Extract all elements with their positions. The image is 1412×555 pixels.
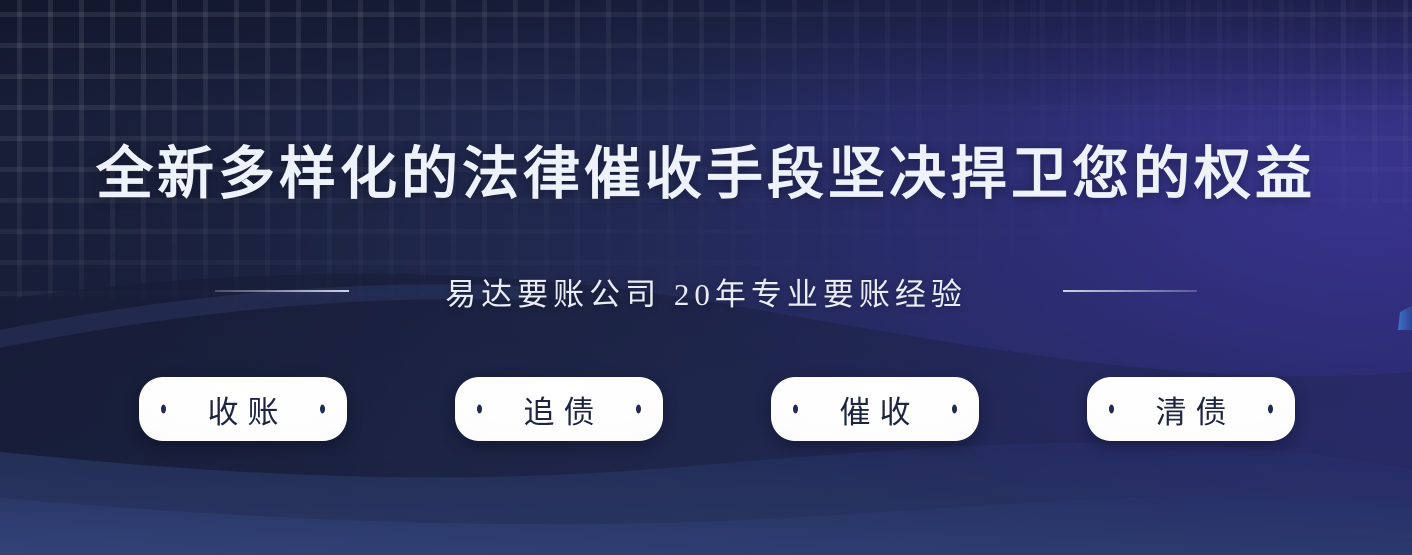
divider-line-left: [215, 290, 349, 292]
divider-line-right: [1063, 290, 1197, 292]
service-pill-label: 收账: [199, 387, 288, 432]
bullet-dot-icon: [1268, 405, 1273, 414]
bullet-dot-icon: [636, 405, 641, 414]
service-pill-label: 追债: [515, 387, 604, 432]
banner-content: 全新多样化的法律催收手段坚决捍卫您的权益 易达要账公司 20年专业要账经验 收账…: [0, 0, 1412, 555]
bullet-dot-icon: [477, 405, 482, 414]
bullet-dot-icon: [320, 405, 325, 414]
service-pill-qingzhai[interactable]: 清债: [1087, 377, 1295, 441]
service-pill-cuishou[interactable]: 催收: [771, 377, 979, 441]
subtitle-row: 易达要账公司 20年专业要账经验: [0, 268, 1412, 314]
promo-banner: 全新多样化的法律催收手段坚决捍卫您的权益 易达要账公司 20年专业要账经验 收账…: [0, 0, 1412, 555]
bullet-dot-icon: [1109, 405, 1114, 414]
service-pill-zhuizhai[interactable]: 追债: [455, 377, 663, 441]
service-pill-shouzhang[interactable]: 收账: [139, 377, 347, 441]
service-pill-label: 清债: [1147, 387, 1236, 432]
bullet-dot-icon: [161, 405, 166, 414]
bullet-dot-icon: [793, 405, 798, 414]
bullet-dot-icon: [952, 405, 957, 414]
service-pill-label: 催收: [831, 387, 920, 432]
page-title: 全新多样化的法律催收手段坚决捍卫您的权益: [0, 146, 1412, 203]
subtitle-text: 易达要账公司 20年专业要账经验: [445, 269, 967, 314]
service-pill-row: 收账 追债 催收 清债: [139, 377, 1295, 441]
